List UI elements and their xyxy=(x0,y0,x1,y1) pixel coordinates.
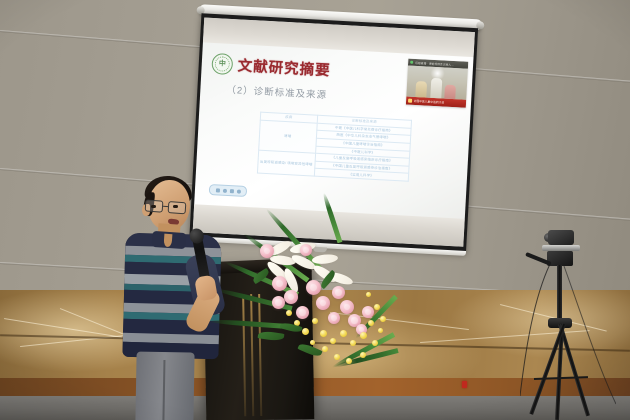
speaker-collar xyxy=(151,231,186,249)
green-seal-icon: 中 xyxy=(211,53,233,75)
banner-badge-icon xyxy=(408,99,412,103)
more-icon[interactable] xyxy=(236,189,240,193)
speaker xyxy=(118,176,230,420)
floral-arrangement xyxy=(228,236,414,386)
pip-video-feed xyxy=(406,66,468,100)
presentation-photo-scene: 中 文献研究摘要 （2）诊断标准及来源 疾病 诊断标准及来源 哮喘 中医《中医儿… xyxy=(0,0,630,420)
slide-content: 中 文献研究摘要 （2）诊断标准及来源 疾病 诊断标准及来源 哮喘 中医《中医儿… xyxy=(194,42,473,218)
pip-figure xyxy=(430,78,442,99)
slide-title: 文献研究摘要 xyxy=(237,54,331,80)
table-row-label: 哮喘 xyxy=(258,120,317,154)
seal-glyph: 中 xyxy=(219,60,226,67)
speaker-eye xyxy=(151,205,156,208)
status-dot-icon xyxy=(410,61,413,64)
pip-video-window[interactable]: 远程直播 · 课堂视频会议接入… 全国中医儿童中医药大会 xyxy=(406,59,468,108)
pip-banner-text: 全国中医儿童中医药大会 xyxy=(413,99,444,105)
diagnostic-criteria-table: 疾病 诊断标准及来源 哮喘 中医《中医儿科学常见病诊疗指南》 西医《中华儿科杂志… xyxy=(256,112,411,182)
red-floor-marker xyxy=(462,381,467,388)
pip-figure xyxy=(444,85,456,100)
pip-figure xyxy=(415,81,427,98)
table-row-label: 反复呼吸道感染/ 咳嗽变异性哮喘 xyxy=(257,150,316,176)
tripod-center-column xyxy=(557,265,562,321)
video-camera xyxy=(548,230,574,245)
speaker-trousers xyxy=(135,351,194,420)
speaker-eye xyxy=(173,205,178,208)
camera-tripod xyxy=(520,226,616,420)
screen-surface: 中 文献研究摘要 （2）诊断标准及来源 疾病 诊断标准及来源 哮喘 中医《中医儿… xyxy=(193,17,475,246)
